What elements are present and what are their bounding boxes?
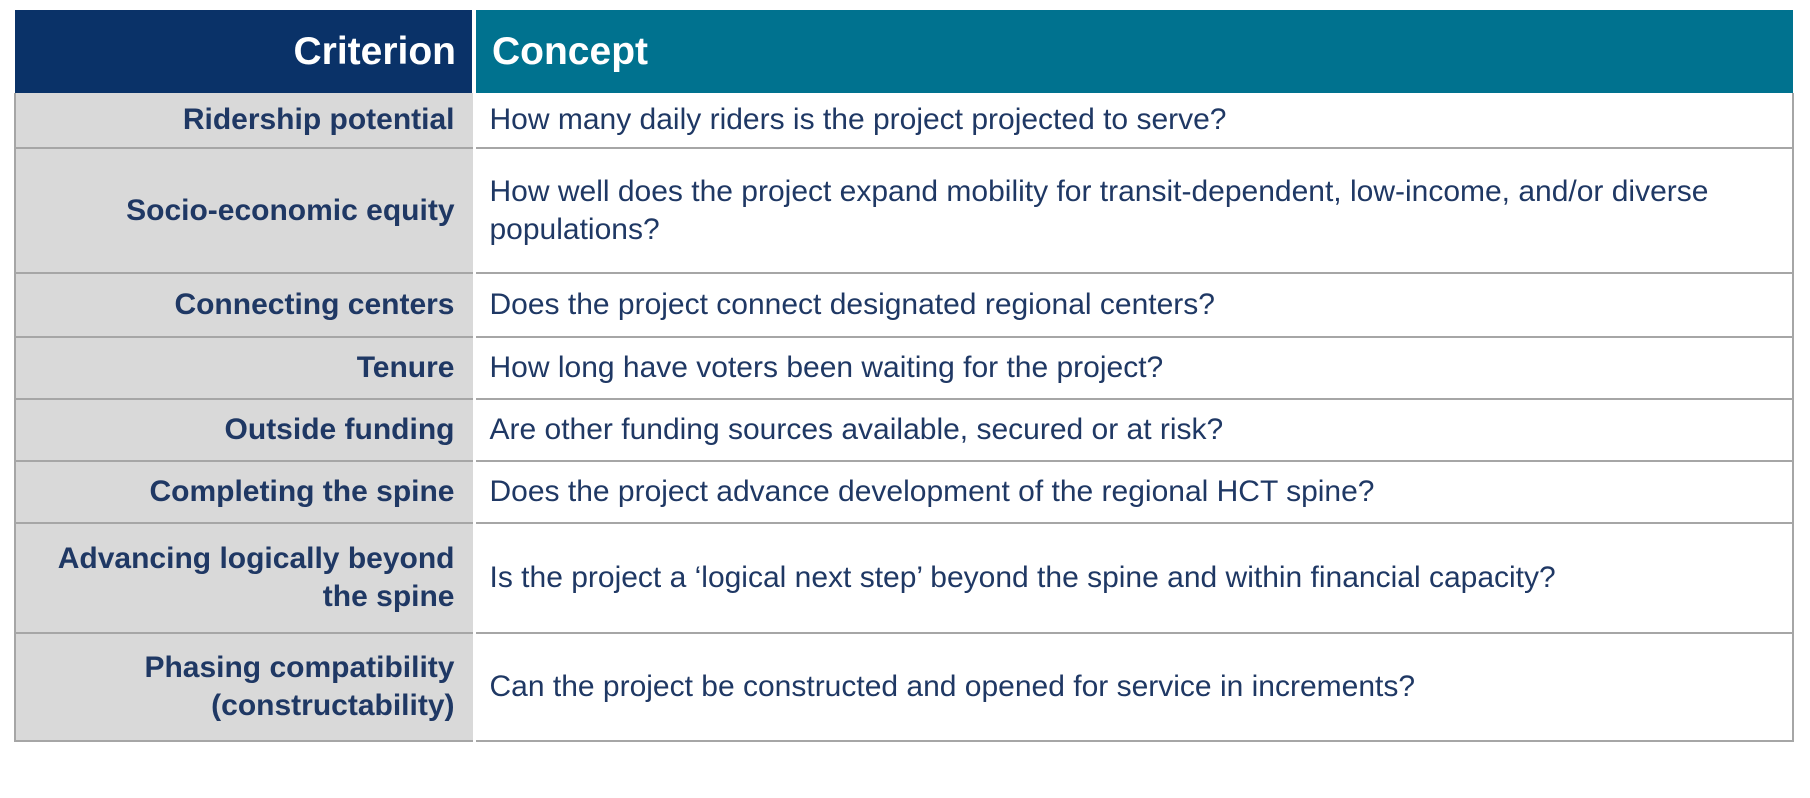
- cell-concept: Does the project connect designated regi…: [474, 273, 1793, 337]
- cell-criterion: Ridership potential: [15, 93, 474, 148]
- table-row: Phasing compatibility (constructability)…: [15, 633, 1793, 741]
- cell-concept: How many daily riders is the project pro…: [474, 93, 1793, 148]
- cell-criterion: Outside funding: [15, 399, 474, 461]
- table-header-row: Criterion Concept: [15, 10, 1793, 93]
- cell-concept: Are other funding sources available, sec…: [474, 399, 1793, 461]
- table-row: Connecting centers Does the project conn…: [15, 273, 1793, 337]
- column-header-concept: Concept: [474, 10, 1793, 93]
- cell-criterion: Socio-economic equity: [15, 148, 474, 273]
- cell-criterion: Tenure: [15, 337, 474, 399]
- criteria-concept-table: Criterion Concept Ridership potential Ho…: [14, 10, 1794, 742]
- cell-concept: How well does the project expand mobilit…: [474, 148, 1793, 273]
- criteria-table-container: Criterion Concept Ridership potential Ho…: [14, 10, 1792, 742]
- cell-concept: Can the project be constructed and opene…: [474, 633, 1793, 741]
- table-row: Tenure How long have voters been waiting…: [15, 337, 1793, 399]
- table-row: Advancing logically beyond the spine Is …: [15, 523, 1793, 633]
- cell-concept: How long have voters been waiting for th…: [474, 337, 1793, 399]
- table-row: Ridership potential How many daily rider…: [15, 93, 1793, 148]
- cell-criterion: Completing the spine: [15, 461, 474, 523]
- table-row: Completing the spine Does the project ad…: [15, 461, 1793, 523]
- table-header: Criterion Concept: [15, 10, 1793, 93]
- cell-criterion: Phasing compatibility (constructability): [15, 633, 474, 741]
- table-body: Ridership potential How many daily rider…: [15, 93, 1793, 741]
- table-row: Socio-economic equity How well does the …: [15, 148, 1793, 273]
- cell-concept: Does the project advance development of …: [474, 461, 1793, 523]
- cell-concept: Is the project a ‘logical next step’ bey…: [474, 523, 1793, 633]
- table-row: Outside funding Are other funding source…: [15, 399, 1793, 461]
- cell-criterion: Connecting centers: [15, 273, 474, 337]
- column-header-criterion: Criterion: [15, 10, 474, 93]
- cell-criterion: Advancing logically beyond the spine: [15, 523, 474, 633]
